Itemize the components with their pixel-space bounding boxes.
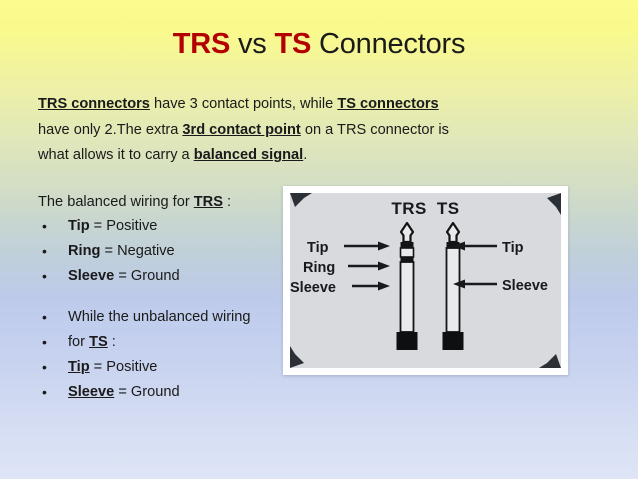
list-item-term: Sleeve — [68, 384, 114, 400]
trs-jack-plug-icon — [394, 221, 420, 353]
diagram-label-tip-right: Tip — [502, 241, 523, 255]
list-item-value: = Ground — [114, 384, 179, 400]
list-item-value: = Ground — [114, 268, 179, 284]
list-item-prefix: for — [68, 334, 89, 350]
balanced-wiring-tail: : — [223, 194, 231, 210]
bullet-icon: • — [42, 264, 47, 289]
bullet-icon: • — [42, 380, 47, 405]
arrow-right-icon — [348, 261, 390, 271]
diagram-label-tip-left: Tip — [307, 241, 328, 255]
paragraph-term-trs-connectors: TRS connectors — [38, 96, 150, 112]
list-item-value: = Positive — [90, 359, 158, 375]
list-item-value: : — [108, 334, 116, 350]
list-item-term: Tip — [68, 359, 90, 375]
paragraph-term-ts-connectors: TS connectors — [337, 96, 438, 112]
list-item-text: While the unbalanced wiring — [68, 309, 251, 325]
bullet-icon: • — [42, 330, 47, 355]
bullet-icon: • — [42, 239, 47, 264]
balanced-wiring-list: • Tip = Positive • Ring = Negative • Sle… — [38, 214, 180, 289]
diagram-heading-trs: TRS — [391, 199, 427, 218]
unbalanced-wiring-list: • While the unbalanced wiring • for TS :… — [38, 305, 251, 405]
list-item-term: Ring — [68, 243, 100, 259]
diagram-label-ring-left: Ring — [303, 261, 335, 275]
connector-diagram-frame: TRSTS Tip Ring Sleeve — [283, 186, 568, 375]
paragraph-text-2: have only 2.The extra — [38, 122, 182, 138]
list-item: • Ring = Negative — [38, 239, 180, 264]
list-item-term: Sleeve — [68, 268, 114, 284]
list-item: • Tip = Positive — [38, 214, 180, 239]
arrow-left-icon — [453, 279, 497, 289]
paragraph-term-balanced-signal: balanced signal — [194, 147, 304, 163]
list-item: • Tip = Positive — [38, 355, 251, 380]
list-item-value: = Positive — [90, 218, 158, 234]
bullet-icon: • — [42, 305, 47, 330]
arrow-right-icon — [352, 281, 390, 291]
balanced-wiring-lead: The balanced wiring for — [38, 194, 194, 210]
list-item: • for TS : — [38, 330, 251, 355]
diagram-label-sleeve-right: Sleeve — [502, 279, 548, 293]
list-item: • Sleeve = Ground — [38, 380, 251, 405]
page-title: TRS vs TS Connectors — [0, 28, 638, 61]
balanced-wiring-term: TRS — [194, 194, 223, 210]
list-item: • While the unbalanced wiring — [38, 305, 251, 330]
diagram-label-sleeve-left: Sleeve — [290, 281, 336, 295]
slide-canvas: TRS vs TS Connectors TRS connectors have… — [0, 0, 638, 479]
title-connectors: Connectors — [311, 28, 465, 60]
arrow-right-icon — [344, 241, 390, 251]
connector-diagram: TRSTS Tip Ring Sleeve — [290, 193, 561, 368]
diagram-heading-ts: TS — [437, 199, 460, 218]
corner-bracket-bottom-right-icon — [539, 346, 561, 368]
paragraph-text-1: have 3 contact points, while — [150, 96, 337, 112]
corner-bracket-bottom-left-icon — [290, 346, 312, 368]
bullet-icon: • — [42, 214, 47, 239]
arrow-left-icon — [453, 241, 497, 251]
list-item-term: TS — [89, 334, 108, 350]
paragraph-term-3rd-contact-point: 3rd contact point — [182, 122, 300, 138]
title-trs: TRS — [173, 28, 230, 60]
list-item-term: Tip — [68, 218, 90, 234]
title-ts: TS — [274, 28, 311, 60]
balanced-wiring-heading: The balanced wiring for TRS : — [38, 192, 231, 212]
intro-paragraph: TRS connectors have 3 contact points, wh… — [38, 92, 458, 169]
title-vs: vs — [230, 28, 274, 60]
list-item-value: = Negative — [100, 243, 174, 259]
diagram-heading: TRSTS — [290, 199, 561, 219]
list-item: • Sleeve = Ground — [38, 264, 180, 289]
paragraph-text-4: . — [303, 147, 307, 163]
bullet-icon: • — [42, 355, 47, 380]
